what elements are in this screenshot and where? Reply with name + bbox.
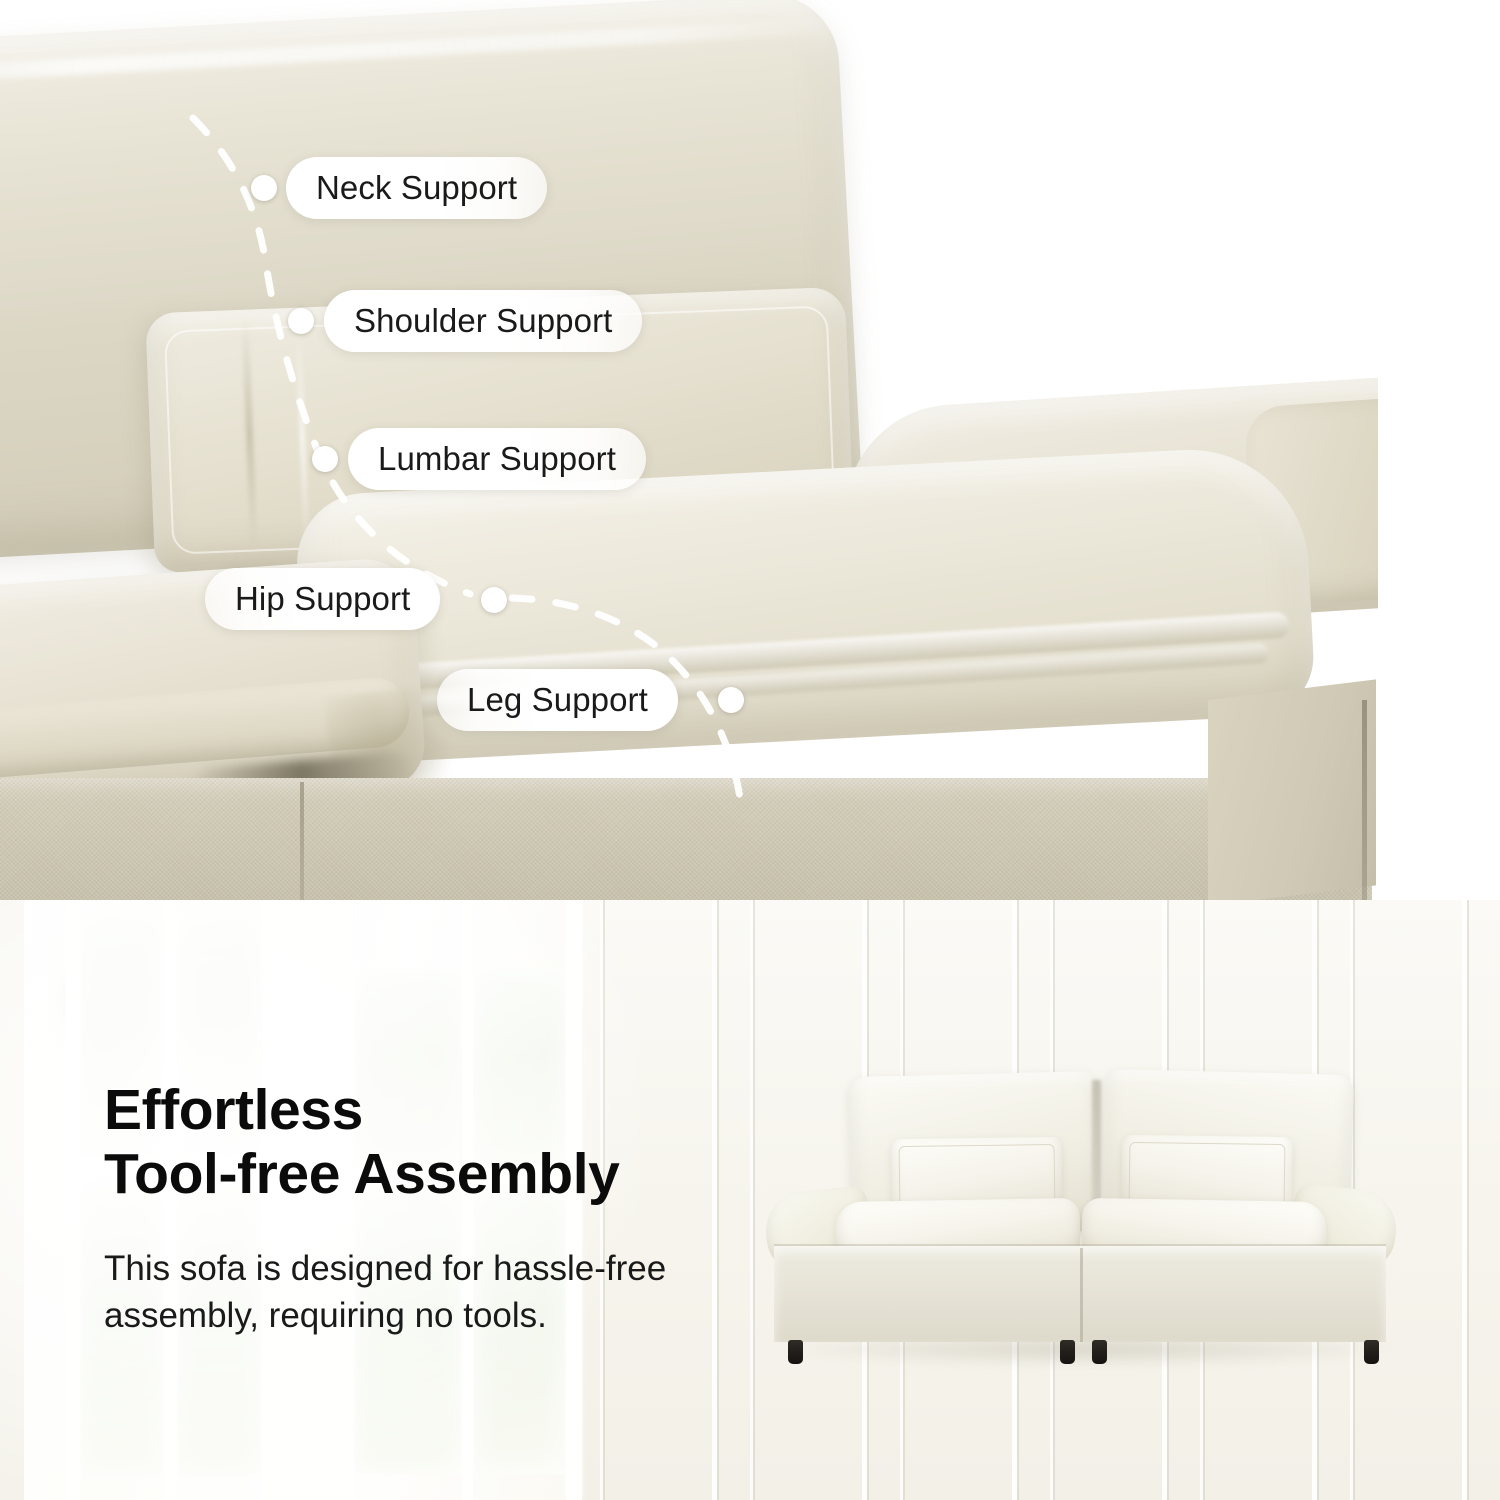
callout-label-leg-support: Leg Support	[467, 681, 648, 719]
mini-sofa-foot	[1364, 1340, 1379, 1364]
callout-label-neck-support: Neck Support	[316, 169, 517, 207]
assembly-heading-line-1: Effortless	[104, 1078, 744, 1142]
callout-dot-leg-support	[718, 687, 744, 713]
product-feature-image: Neck Support Shoulder Support Lumbar Sup…	[0, 0, 1500, 1500]
product-sofa-image	[752, 1050, 1412, 1370]
ergonomic-callout-panel: Neck Support Shoulder Support Lumbar Sup…	[0, 0, 1500, 900]
callout-dot-shoulder-support	[288, 308, 314, 334]
mini-sofa-foot	[1060, 1340, 1075, 1364]
callout-pill-hip-support[interactable]: Hip Support	[205, 568, 440, 630]
callout-connector-lines	[0, 0, 1500, 900]
assembly-heading-line-2: Tool-free Assembly	[104, 1142, 744, 1206]
callout-pill-neck-support[interactable]: Neck Support	[286, 157, 547, 219]
callout-pill-shoulder-support[interactable]: Shoulder Support	[324, 290, 642, 352]
assembly-copy-block: Effortless Tool-free Assembly This sofa …	[104, 1078, 744, 1340]
callout-dot-neck-support	[251, 175, 277, 201]
wall-return	[0, 900, 24, 1500]
mini-sofa-foot	[788, 1340, 803, 1364]
window-mullion	[66, 900, 80, 1500]
assembly-heading: Effortless Tool-free Assembly	[104, 1078, 744, 1207]
callout-dot-hip-support	[481, 587, 507, 613]
callout-dot-lumbar-support	[312, 446, 338, 472]
callout-pill-leg-support[interactable]: Leg Support	[437, 669, 678, 731]
assembly-body-text: This sofa is designed for hassle-free as…	[104, 1245, 744, 1340]
callout-label-hip-support: Hip Support	[235, 580, 410, 618]
callout-label-lumbar-support: Lumbar Support	[378, 440, 616, 478]
callout-label-shoulder-support: Shoulder Support	[354, 302, 612, 340]
mini-sofa-foot	[1092, 1340, 1107, 1364]
callout-pill-lumbar-support[interactable]: Lumbar Support	[348, 428, 646, 490]
mini-sofa-module-seam	[1080, 1248, 1083, 1342]
